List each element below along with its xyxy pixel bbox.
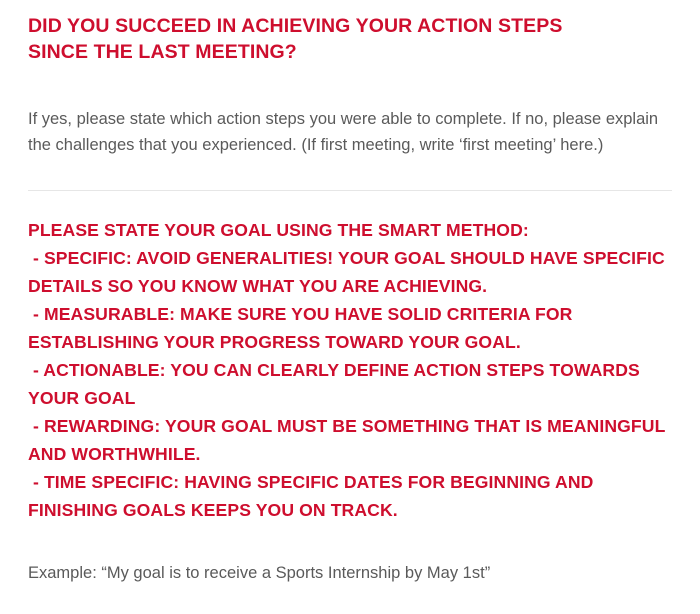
example-section: Example: “My goal is to receive a Sports… [0, 560, 700, 586]
question-help-text: If yes, please state which action steps … [28, 65, 672, 158]
smart-item-specific: - SPECIFIC: AVOID GENERALITIES! YOUR GOA… [28, 244, 672, 300]
divider-container [0, 190, 700, 191]
form-page: DID YOU SUCCEED IN ACHIEVING YOUR ACTION… [0, 0, 700, 614]
section-divider [28, 190, 672, 191]
smart-method-section: PLEASE STATE YOUR GOAL USING THE SMART M… [0, 216, 700, 524]
smart-item-measurable: - MEASURABLE: MAKE SURE YOU HAVE SOLID C… [28, 300, 672, 356]
smart-heading: PLEASE STATE YOUR GOAL USING THE SMART M… [28, 216, 672, 244]
smart-item-actionable: - ACTIONABLE: YOU CAN CLEARLY DEFINE ACT… [28, 356, 672, 412]
question-heading: DID YOU SUCCEED IN ACHIEVING YOUR ACTION… [28, 0, 628, 65]
smart-method-block: PLEASE STATE YOUR GOAL USING THE SMART M… [28, 216, 672, 524]
example-text: Example: “My goal is to receive a Sports… [28, 560, 672, 586]
smart-item-time-specific: - TIME SPECIFIC: HAVING SPECIFIC DATES F… [28, 468, 672, 524]
question-section: DID YOU SUCCEED IN ACHIEVING YOUR ACTION… [0, 0, 700, 158]
smart-item-rewarding: - REWARDING: YOUR GOAL MUST BE SOMETHING… [28, 412, 672, 468]
